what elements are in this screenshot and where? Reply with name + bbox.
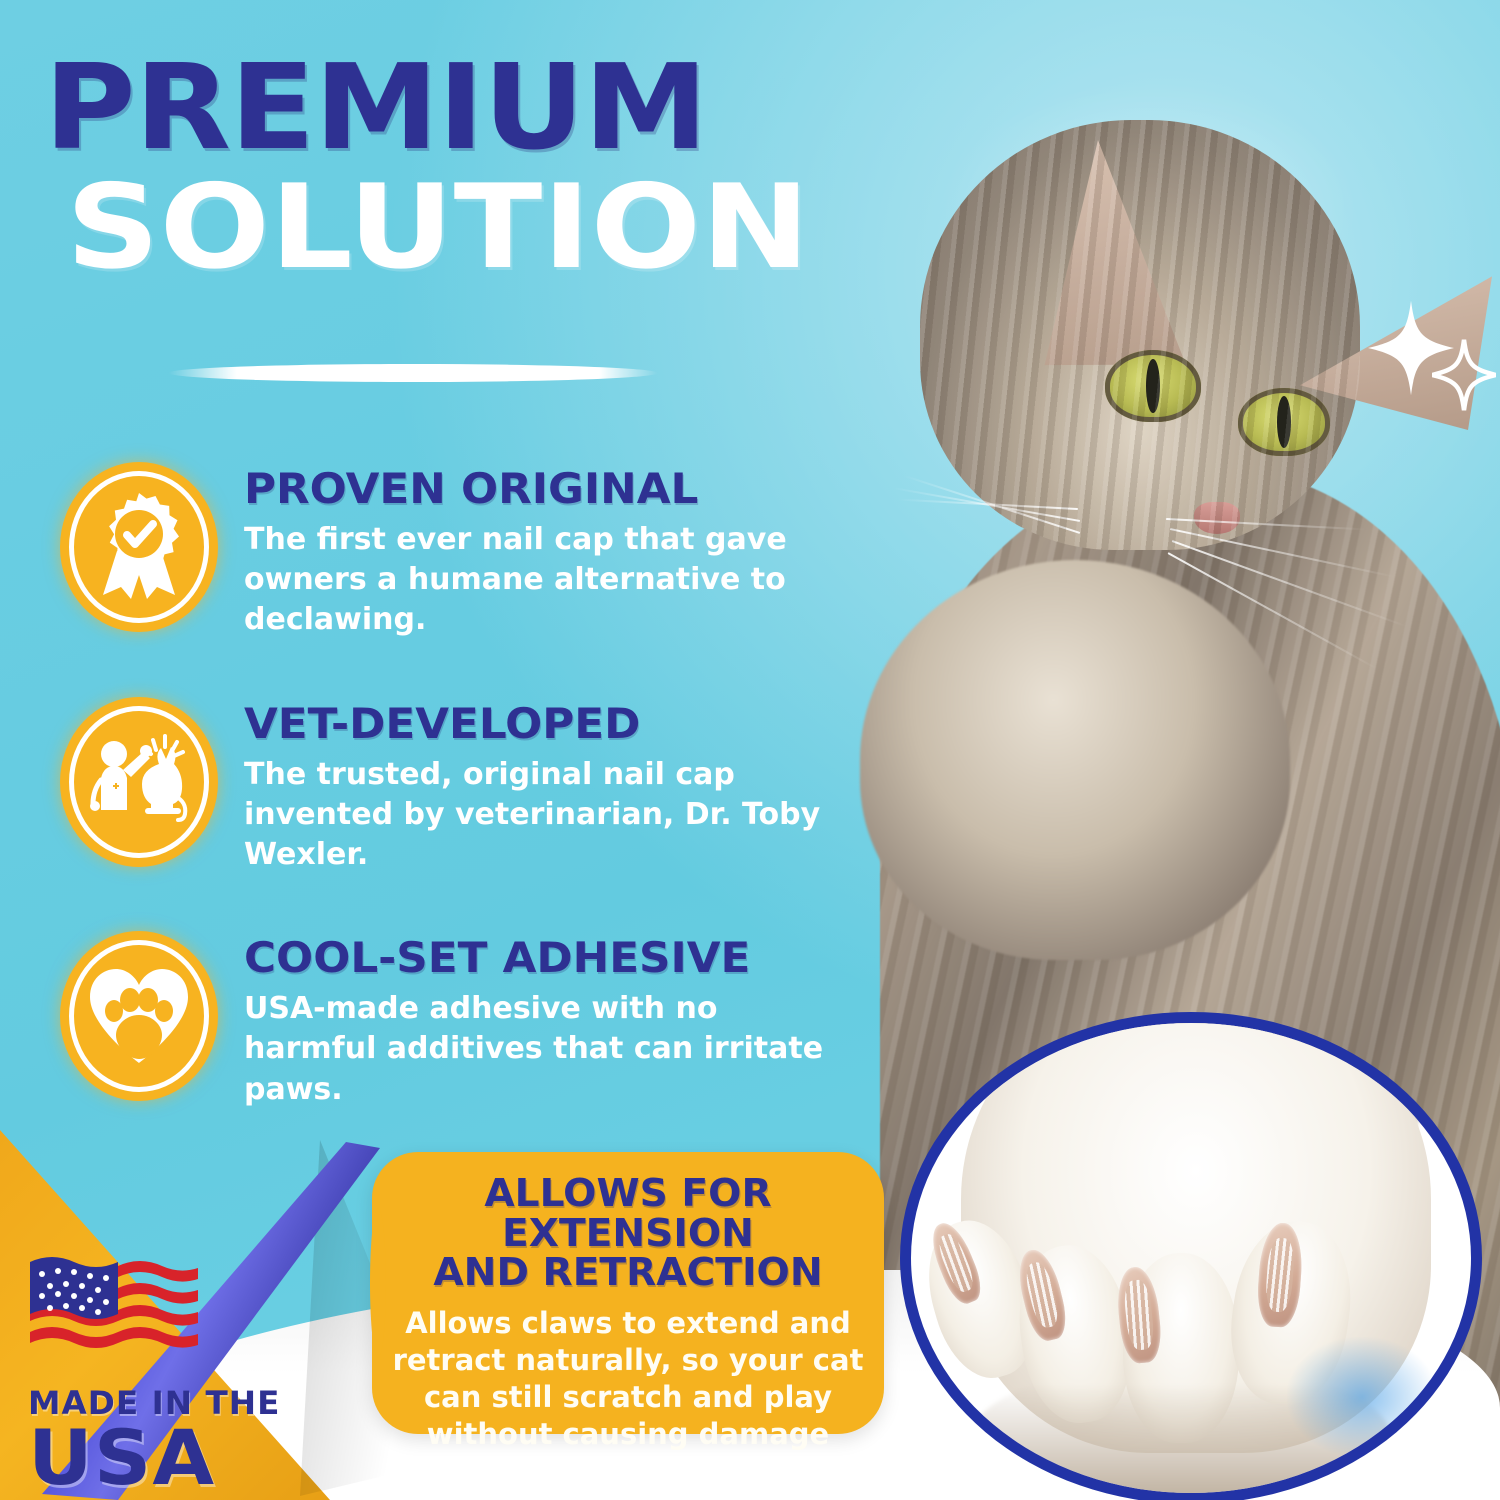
feature-item: PROVEN ORIGINAL The first ever nail cap … bbox=[60, 462, 860, 641]
feature-text: PROVEN ORIGINAL The first ever nail cap … bbox=[244, 462, 860, 641]
made-in-usa-badge: MADE IN THE USA bbox=[28, 1250, 278, 1494]
cat-pupil bbox=[1146, 359, 1160, 414]
cat-chest-ruff bbox=[860, 560, 1290, 960]
cat-head bbox=[920, 120, 1360, 550]
inset-blue-glow bbox=[1287, 1337, 1437, 1457]
extension-retraction-callout: ALLOWS FOR EXTENSION AND RETRACTION Allo… bbox=[372, 1152, 884, 1434]
cat-whisker bbox=[903, 475, 1081, 534]
callout-body: Allows claws to extend and retract natur… bbox=[392, 1305, 864, 1453]
feature-list: PROVEN ORIGINAL The first ever nail cap … bbox=[60, 462, 860, 1166]
heart-paw-icon bbox=[60, 931, 218, 1101]
feature-title: COOL-SET ADHESIVE bbox=[244, 937, 885, 979]
feature-text: VET-DEVELOPED The trusted, original nail… bbox=[244, 697, 860, 876]
feature-item: VET-DEVELOPED The trusted, original nail… bbox=[60, 697, 860, 876]
headline: PREMIUM SOLUTION bbox=[44, 52, 844, 285]
award-ribbon-icon bbox=[60, 462, 218, 632]
sparkle-outline-icon bbox=[1432, 338, 1496, 412]
headline-underline-swoosh bbox=[168, 364, 658, 382]
cat-pupil bbox=[1277, 396, 1291, 448]
usa-flag-icon bbox=[28, 1250, 200, 1368]
made-in-usa-line-2: USA bbox=[28, 1422, 291, 1494]
cat-eye-left bbox=[1105, 350, 1201, 422]
feature-description: The trusted, original nail cap invented … bbox=[244, 755, 860, 876]
cat-whisker bbox=[898, 499, 1078, 510]
callout-title-line-1: ALLOWS FOR EXTENSION bbox=[385, 1174, 871, 1253]
feature-description: The first ever nail cap that gave owners… bbox=[244, 520, 860, 641]
product-infographic: PREMIUM SOLUTION PROVEN ORIGINAL The fir… bbox=[0, 0, 1500, 1500]
cat-nose bbox=[1194, 502, 1240, 534]
headline-line-1: PREMIUM bbox=[44, 52, 892, 163]
callout-title-line-2: AND RETRACTION bbox=[385, 1253, 871, 1293]
cat-ear-left bbox=[1020, 135, 1186, 375]
paw-closeup-inset bbox=[900, 1012, 1482, 1500]
feature-title: PROVEN ORIGINAL bbox=[244, 468, 885, 510]
headline-line-2: SOLUTION bbox=[66, 171, 937, 285]
feature-title: VET-DEVELOPED bbox=[244, 703, 885, 745]
vet-high-five-cat-icon bbox=[60, 697, 218, 867]
cat-eye-right bbox=[1238, 388, 1330, 456]
